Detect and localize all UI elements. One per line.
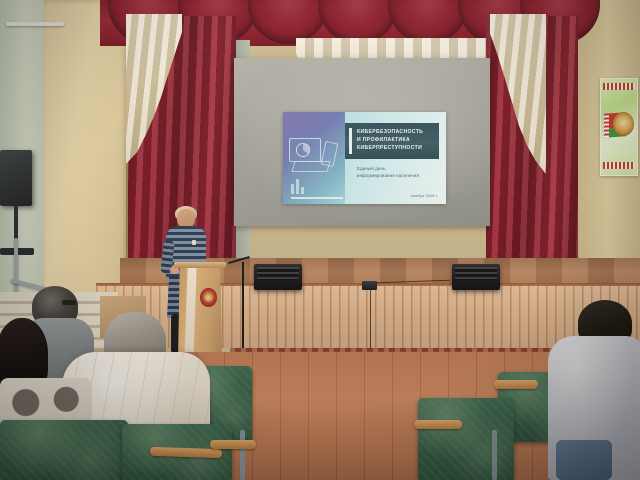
chart-dial-icon xyxy=(296,143,310,157)
podium-coat-of-arms-icon xyxy=(200,288,217,307)
bar-icon xyxy=(301,187,304,194)
microphone-stand-pole xyxy=(242,262,244,357)
slide-title: КИБЕРБЕЗОПАСНОСТЬ И ПРОФИЛАКТИКА КИБЕРПР… xyxy=(345,129,427,153)
presentation-slide: КИБЕРБЕЗОПАСНОСТЬ И ПРОФИЛАКТИКА КИБЕРПР… xyxy=(283,112,446,204)
slide-title-line-2: И ПРОФИЛАКТИКА xyxy=(357,137,423,145)
seat-leg xyxy=(240,430,245,480)
slide-subtitle-line-1: Единый день xyxy=(357,166,443,173)
seat-armrest xyxy=(494,380,538,389)
slide-footer-bar xyxy=(291,197,343,200)
stage-monitor-speaker-right xyxy=(452,264,500,290)
podium-top-surface xyxy=(174,262,226,268)
slide-date: ноября 2025 г. xyxy=(411,194,438,198)
slide-subtitle: Единый день информирования населения xyxy=(357,166,443,180)
bar-icon xyxy=(291,184,294,194)
slide-title-line-3: КИБЕРПРЕСТУПНОСТИ xyxy=(357,145,423,153)
title-accent-bar xyxy=(349,128,352,154)
slide-title-line-1: КИБЕРБЕЗОПАСНОСТЬ xyxy=(357,129,423,137)
theater-seat xyxy=(418,398,514,480)
belarus-symbols-poster xyxy=(600,78,638,176)
bar-icon xyxy=(296,179,299,194)
audio-cable xyxy=(370,289,371,353)
phone-icon xyxy=(321,141,339,167)
audience-person-jeans xyxy=(556,440,612,480)
ornament-border-icon xyxy=(603,83,635,90)
auditorium-photo: КИБЕРБЕЗОПАСНОСТЬ И ПРОФИЛАКТИКА КИБЕРПР… xyxy=(0,0,640,480)
eyeglasses-icon xyxy=(62,300,76,305)
stage-monitor-speaker-left xyxy=(254,264,302,290)
seat-armrest xyxy=(210,440,256,449)
presenter-badge xyxy=(192,240,196,245)
seat-leg xyxy=(492,430,497,480)
pa-loudspeaker xyxy=(0,150,32,206)
slide-title-box: КИБЕРБЕЗОПАСНОСТЬ И ПРОФИЛАКТИКА КИБЕРПР… xyxy=(345,123,439,159)
belarus-coat-of-arms-icon xyxy=(613,112,634,136)
ornament-border-icon xyxy=(603,162,635,169)
slide-subtitle-line-2: информирования населения xyxy=(357,173,443,180)
theater-seat xyxy=(0,420,128,480)
seat-armrest xyxy=(414,420,462,429)
ceiling-rail xyxy=(6,22,64,26)
slide-artwork-icon xyxy=(283,112,345,204)
stair-handrail-post xyxy=(14,238,18,296)
